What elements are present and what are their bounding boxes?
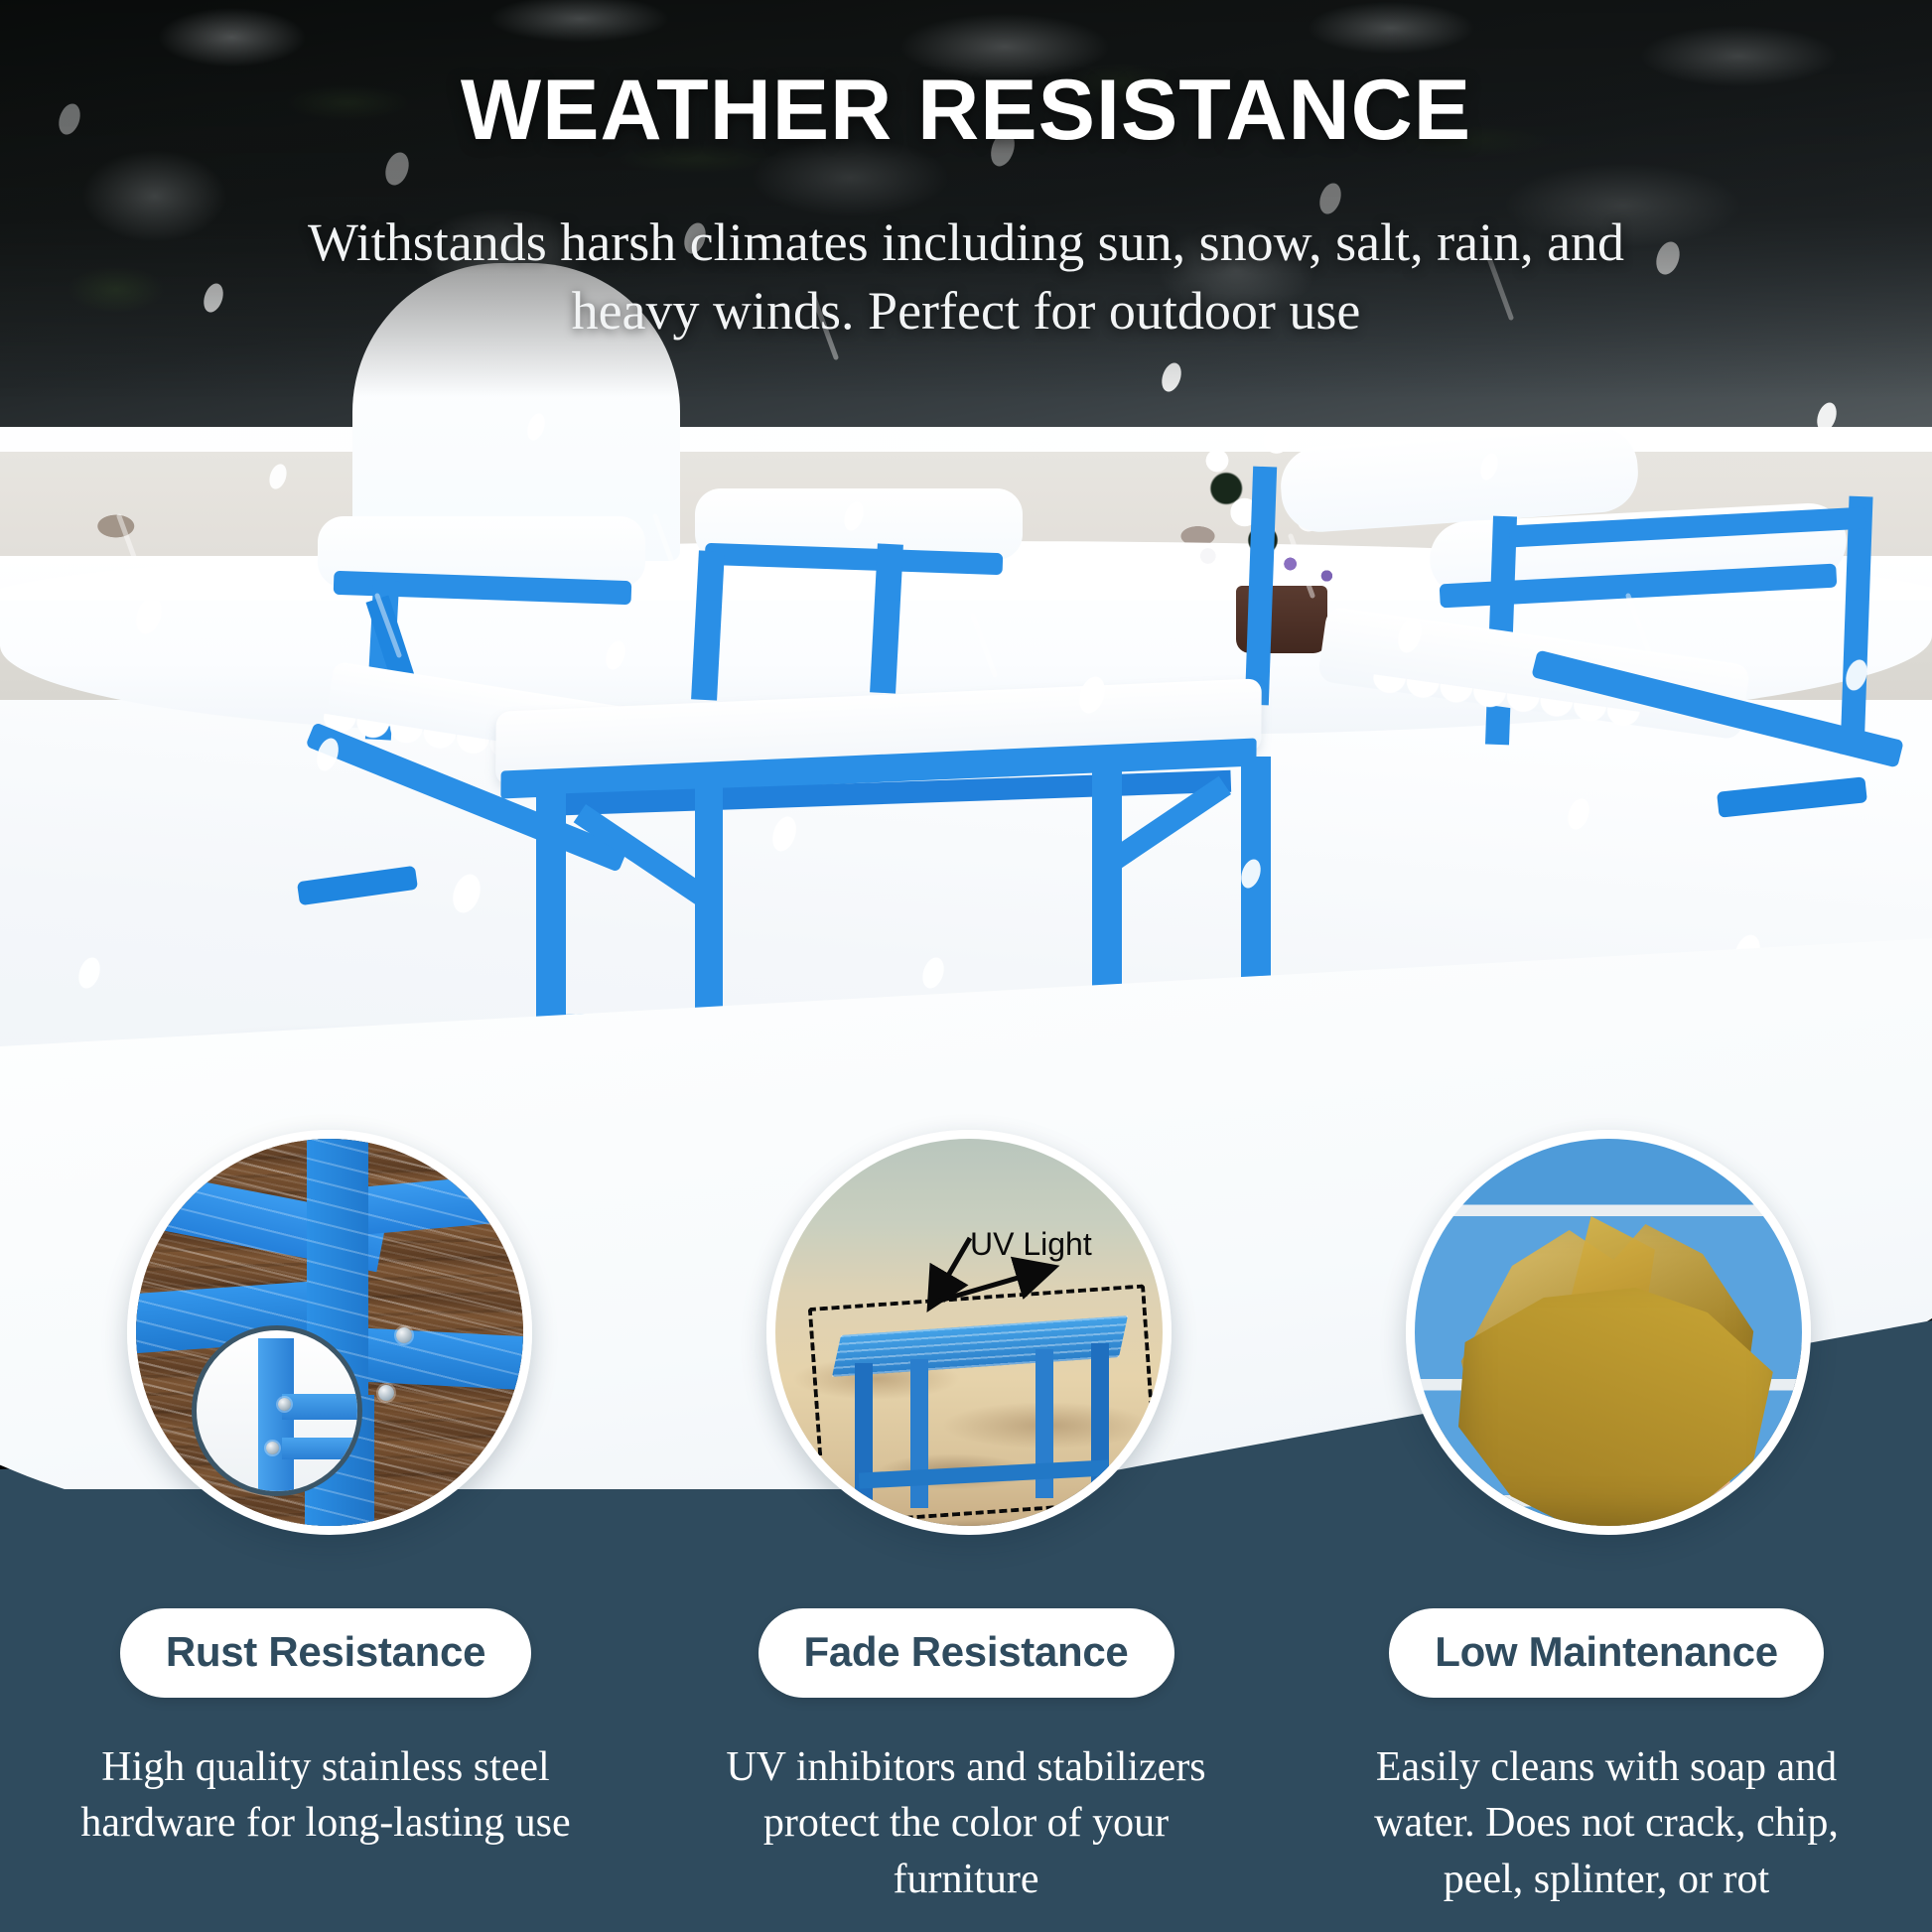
feature-image-rust: [127, 1130, 532, 1535]
uv-light-label: UV Light: [970, 1226, 1092, 1263]
inset-beam-lower: [282, 1438, 362, 1459]
feature-block-fade: Fade Resistance UV inhibitors and stabil…: [688, 1608, 1244, 1907]
inset-beam-upper: [282, 1394, 362, 1420]
feature-block-rust: Rust Resistance High quality stainless s…: [48, 1608, 604, 1852]
screw-icon: [278, 1398, 291, 1411]
page-title: WEATHER RESISTANCE: [0, 62, 1932, 160]
feature-label-rust: Rust Resistance: [120, 1608, 531, 1698]
feature-label-clean: Low Maintenance: [1389, 1608, 1824, 1698]
feature-description-rust: High quality stainless steel hardware fo…: [48, 1739, 604, 1852]
table-leg-front-left: [855, 1363, 873, 1520]
infographic-page: WEATHER RESISTANCE Withstands harsh clim…: [0, 0, 1932, 1932]
screw-icon: [266, 1442, 279, 1454]
feature-description-clean: Easily cleans with soap and water. Does …: [1328, 1739, 1884, 1907]
feature-image-clean: [1406, 1130, 1811, 1535]
feature-block-clean: Low Maintenance Easily cleans with soap …: [1328, 1608, 1884, 1907]
page-subtitle: Withstands harsh climates including sun,…: [271, 208, 1661, 345]
feature-image-fade: UV Light: [766, 1130, 1172, 1535]
feature-label-fade: Fade Resistance: [759, 1608, 1174, 1698]
magnified-joint-inset: [192, 1325, 362, 1496]
feature-description-fade: UV inhibitors and stabilizers protect th…: [688, 1739, 1244, 1907]
